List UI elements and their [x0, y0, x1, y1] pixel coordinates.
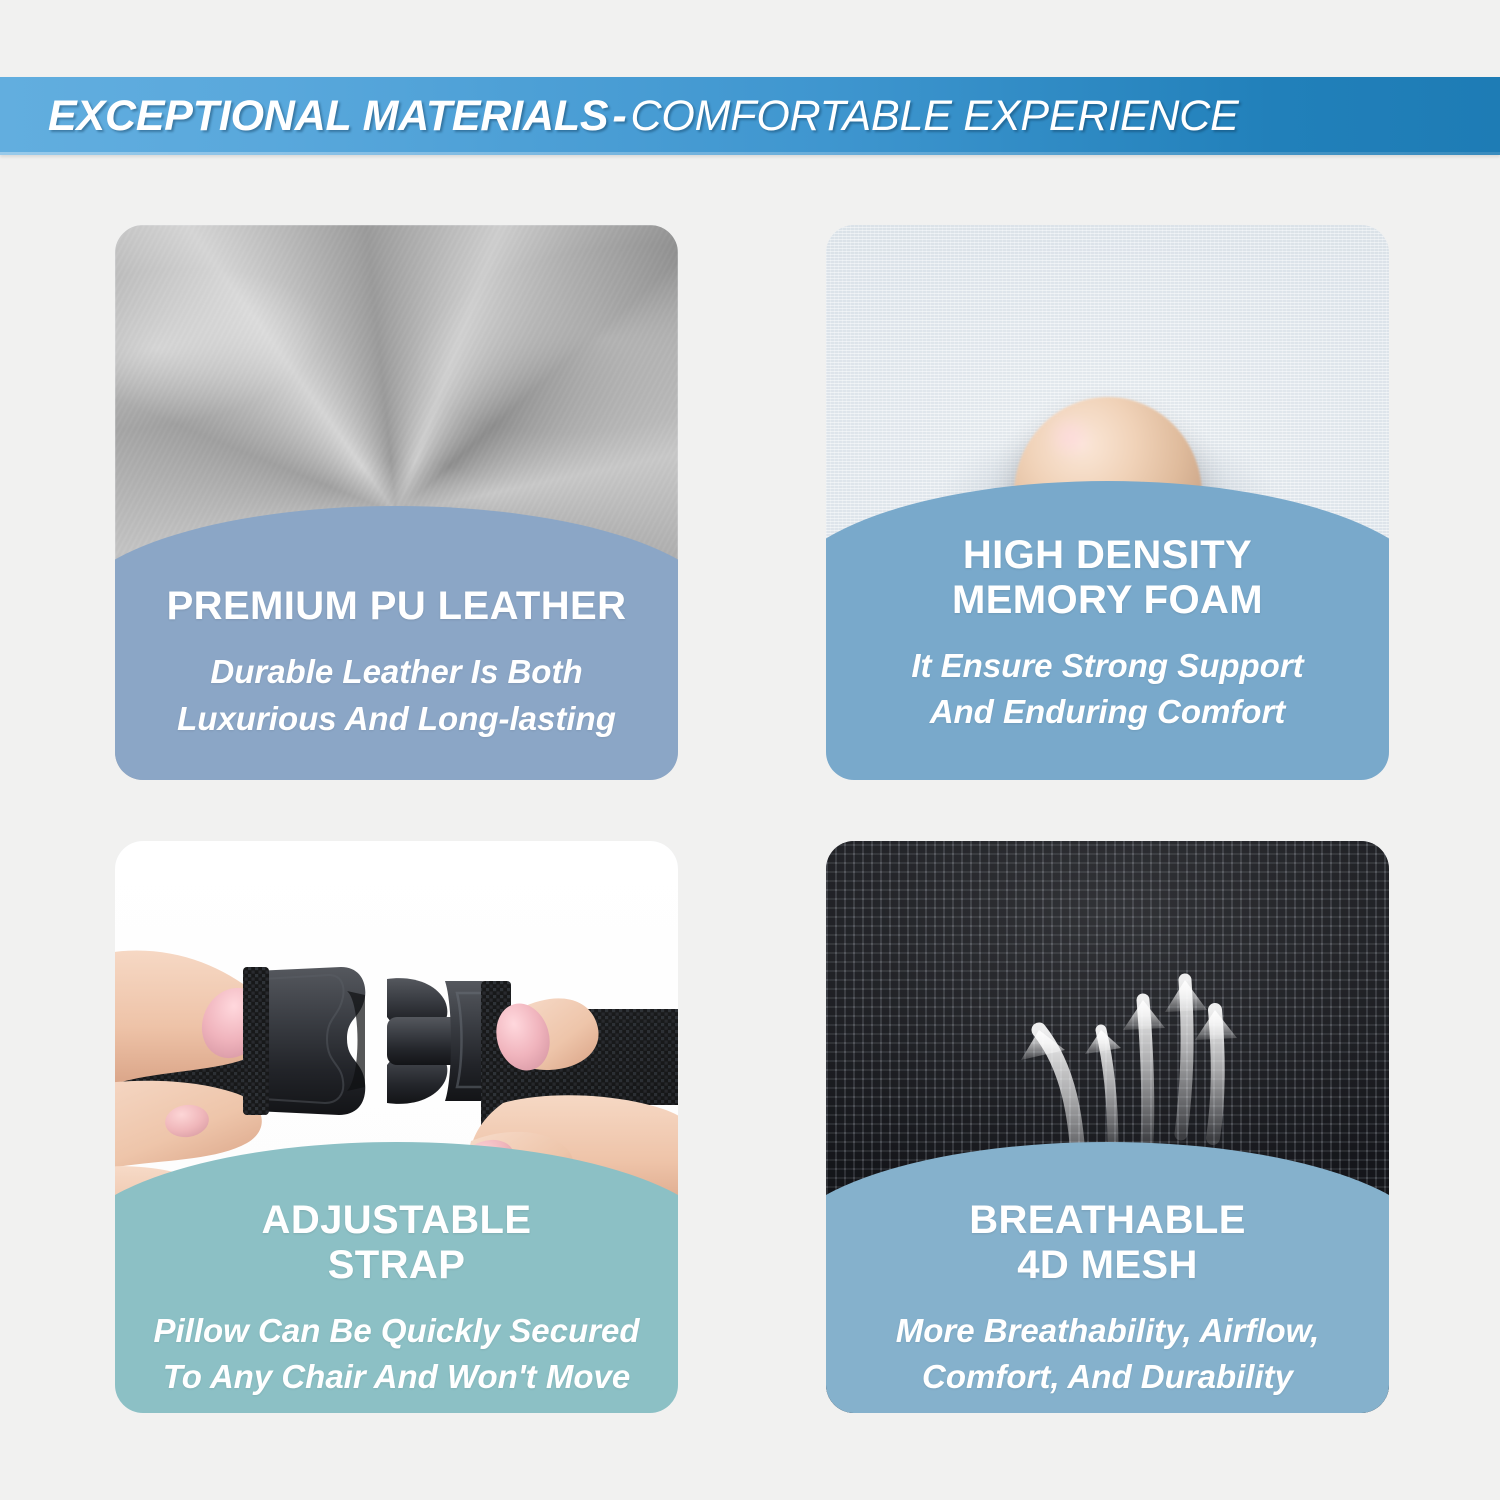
caption-title: BREATHABLE 4D MESH [841, 1198, 1375, 1288]
banner-title: EXCEPTIONAL MATERIALS-COMFORTABLE EXPERI… [0, 92, 1239, 141]
caption-adjustable-strap: ADJUSTABLE STRAP Pillow Can Be Quickly S… [115, 1142, 678, 1413]
caption-subtitle: Durable Leather Is Both Luxurious And Lo… [130, 649, 664, 743]
caption-high-density-memory-foam: HIGH DENSITY MEMORY FOAM It Ensure Stron… [826, 481, 1389, 780]
buckle-socket [253, 967, 365, 1115]
banner-title-strong: EXCEPTIONAL MATERIALS [48, 92, 608, 140]
caption-title: HIGH DENSITY MEMORY FOAM [841, 533, 1375, 623]
banner-title-separator: - [608, 92, 630, 140]
feature-grid: PREMIUM PU LEATHER Durable Leather Is Bo… [115, 225, 1389, 1413]
caption-title: ADJUSTABLE STRAP [130, 1198, 664, 1288]
caption-breathable-4d-mesh: BREATHABLE 4D MESH More Breathability, A… [826, 1142, 1389, 1413]
feature-panel-breathable-4d-mesh: BREATHABLE 4D MESH More Breathability, A… [826, 841, 1389, 1413]
caption-subtitle: It Ensure Strong Support And Enduring Co… [841, 643, 1375, 737]
caption-subtitle: More Breathability, Airflow, Comfort, An… [841, 1308, 1375, 1402]
caption-title: PREMIUM PU LEATHER [130, 584, 664, 629]
feature-panel-adjustable-strap: ADJUSTABLE STRAP Pillow Can Be Quickly S… [115, 841, 678, 1413]
feature-panel-premium-pu-leather: PREMIUM PU LEATHER Durable Leather Is Bo… [115, 225, 678, 780]
caption-premium-pu-leather: PREMIUM PU LEATHER Durable Leather Is Bo… [115, 506, 678, 780]
header-banner: EXCEPTIONAL MATERIALS-COMFORTABLE EXPERI… [0, 77, 1500, 155]
feature-panel-high-density-memory-foam: HIGH DENSITY MEMORY FOAM It Ensure Stron… [826, 225, 1389, 780]
caption-subtitle: Pillow Can Be Quickly Secured To Any Cha… [130, 1308, 664, 1402]
buckle-prongs [387, 978, 495, 1104]
banner-title-light: COMFORTABLE EXPERIENCE [631, 92, 1239, 140]
